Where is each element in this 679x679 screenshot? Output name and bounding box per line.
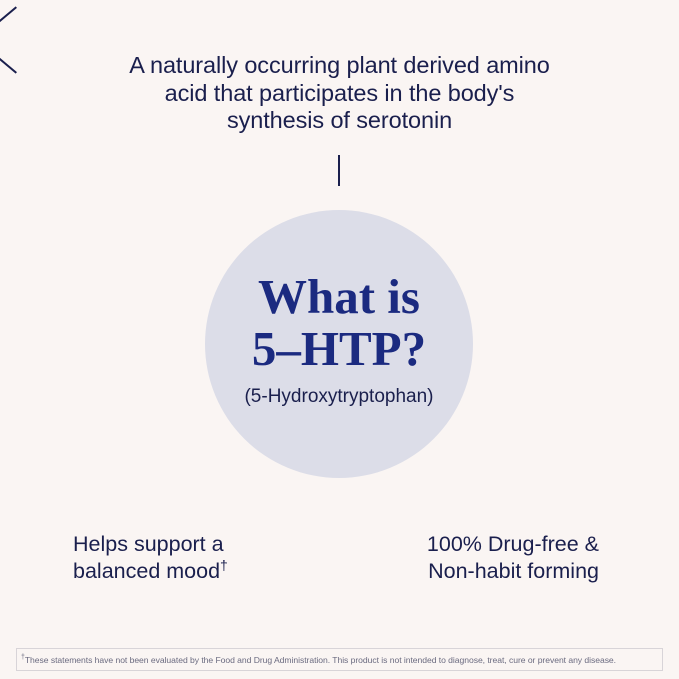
benefit-label-right: 100% Drug-free & Non-habit forming [427, 531, 599, 585]
circle-heading: What is 5–HTP? [252, 271, 426, 375]
benefit-left-line-2: balanced mood† [73, 558, 228, 585]
central-circle: What is 5–HTP? (5-Hydroxytryptophan) [205, 210, 473, 478]
footer-disclaimer-box: †These statements have not been evaluate… [16, 648, 663, 671]
footer-disclaimer-body: These statements have not been evaluated… [25, 655, 616, 665]
footnote-marker-icon: † [220, 557, 228, 573]
benefit-left-line-1: Helps support a [73, 531, 228, 558]
benefit-right-line-2: Non-habit forming [427, 558, 599, 585]
benefit-right-line-1: 100% Drug-free & [427, 531, 599, 558]
headline-line-2: acid that participates in the body's [0, 80, 679, 108]
circle-heading-line-2: 5–HTP? [252, 323, 426, 375]
benefit-left-line-2-text: balanced mood [73, 559, 220, 583]
circle-heading-line-1: What is [252, 271, 426, 323]
connector-line-bottom-left [0, 6, 17, 33]
circle-subtitle: (5-Hydroxytryptophan) [244, 386, 433, 408]
headline-text: A naturally occurring plant derived amin… [0, 52, 679, 135]
benefit-label-left: Helps support a balanced mood† [73, 531, 228, 585]
headline-line-3: synthesis of serotonin [0, 107, 679, 135]
connector-line-top [338, 155, 340, 186]
headline-line-1: A naturally occurring plant derived amin… [0, 52, 679, 80]
footer-disclaimer-text: †These statements have not been evaluate… [21, 655, 616, 665]
infographic-canvas: A naturally occurring plant derived amin… [0, 0, 679, 679]
